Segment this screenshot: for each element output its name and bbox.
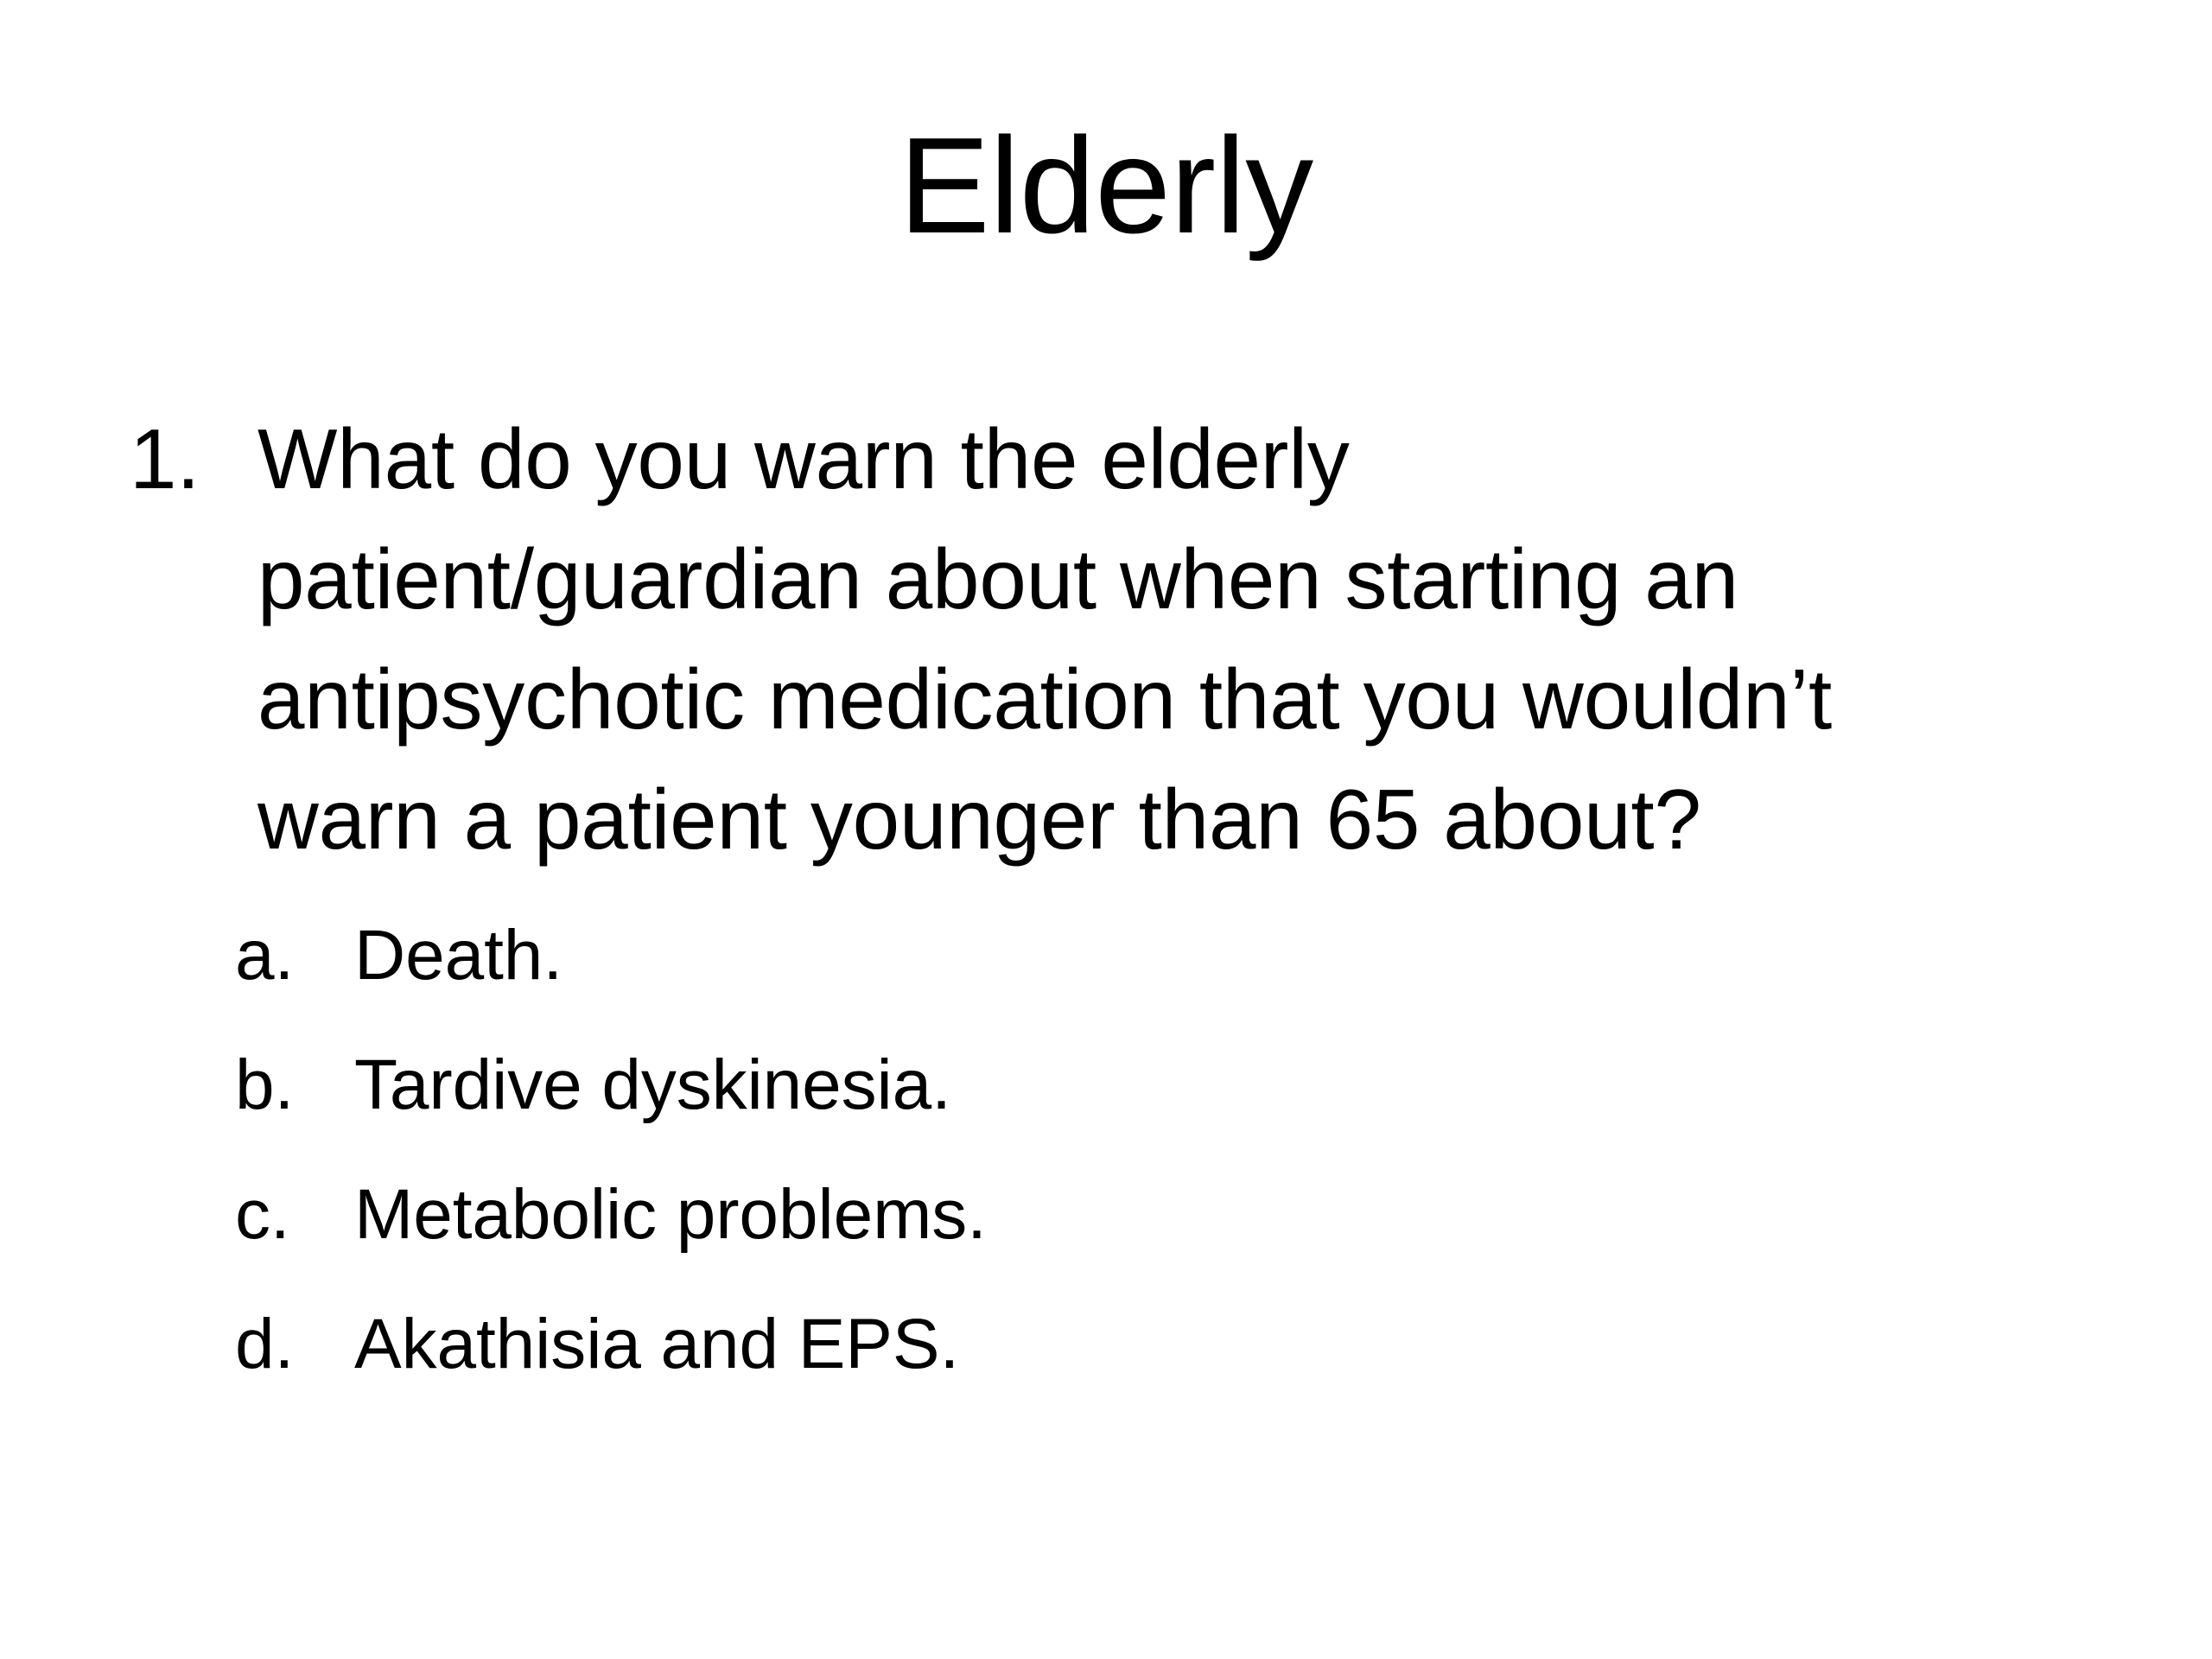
choice-text-c: Metabolic problems. bbox=[354, 1179, 2100, 1250]
answer-choice-a[interactable]: a. Death. bbox=[130, 920, 2100, 991]
question-number-marker: 1. bbox=[130, 399, 257, 519]
choice-letter-marker-d: d. bbox=[235, 1309, 354, 1380]
choice-letter-marker-b: b. bbox=[235, 1050, 354, 1121]
choice-text-d: Akathisia and EPS. bbox=[354, 1309, 2100, 1380]
question-text: What do you warn the elderly patient/gua… bbox=[257, 399, 1968, 880]
slide-body: 1. What do you warn the elderly patient/… bbox=[130, 399, 2100, 1380]
question-item: 1. What do you warn the elderly patient/… bbox=[130, 399, 2100, 880]
choice-letter-marker-a: a. bbox=[235, 920, 354, 991]
answer-choice-d[interactable]: d. Akathisia and EPS. bbox=[130, 1309, 2100, 1380]
choice-text-b: Tardive dyskinesia. bbox=[354, 1050, 2100, 1121]
slide-title: Elderly bbox=[0, 112, 2212, 260]
choice-letter-marker-c: c. bbox=[235, 1179, 354, 1250]
presentation-slide: Elderly 1. What do you warn the elderly … bbox=[0, 0, 2212, 1659]
answer-choice-b[interactable]: b. Tardive dyskinesia. bbox=[130, 1050, 2100, 1121]
choice-text-a: Death. bbox=[354, 920, 2100, 991]
answer-choice-list: a. Death. b. Tardive dyskinesia. c. Meta… bbox=[130, 920, 2100, 1380]
answer-choice-c[interactable]: c. Metabolic problems. bbox=[130, 1179, 2100, 1250]
